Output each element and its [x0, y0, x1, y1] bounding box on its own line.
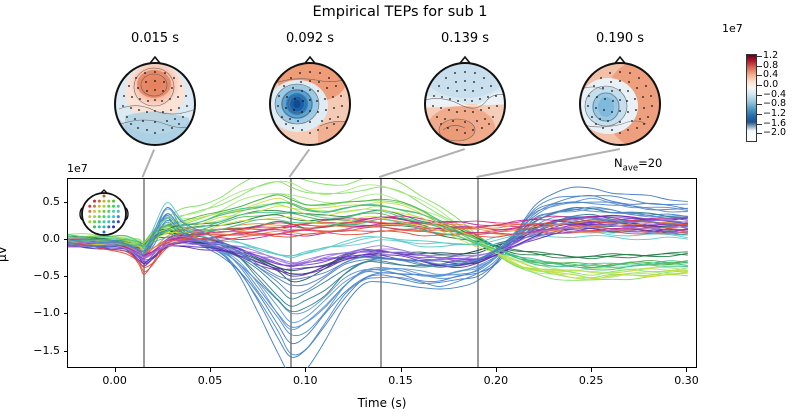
sensor-dot — [93, 215, 96, 218]
y-tick-label: −0.5 — [14, 269, 60, 282]
topomap-3[interactable] — [570, 54, 670, 150]
y-tick-label: −1.5 — [14, 344, 60, 357]
sensor-dot — [107, 220, 110, 223]
colorbar-tick-mark — [757, 114, 762, 115]
sensor-dot — [103, 220, 106, 223]
n-ave-value: =20 — [638, 156, 662, 170]
colorbar-tick-label: −1.2 — [763, 109, 786, 118]
sensor-dot — [93, 210, 96, 213]
n-ave-text: N — [614, 156, 623, 170]
sensor-dot — [112, 200, 115, 203]
sensor-dot — [107, 225, 110, 228]
colorbar-gradient — [746, 54, 757, 142]
sensor-dot — [103, 231, 106, 234]
x-tick-label: 0.15 — [376, 374, 426, 387]
x-tick-mark — [591, 368, 592, 372]
topomap-title-1: 0.092 s — [260, 31, 360, 46]
sensor-dot — [98, 220, 101, 223]
x-tick-mark — [686, 368, 687, 372]
sensor-dot — [107, 210, 110, 213]
sensor-dot — [88, 215, 91, 218]
evoked-waveform-traces — [68, 179, 697, 368]
colorbar-tick-label: 0.4 — [763, 70, 778, 79]
sensor-dot — [98, 205, 101, 208]
x-axis-label: Time (s) — [0, 396, 764, 410]
topomap-title-3: 0.190 s — [570, 31, 670, 46]
topomap-leader-line — [476, 148, 620, 178]
sensor-layout-inset[interactable] — [74, 188, 134, 242]
n-ave-subscript: ave — [623, 163, 638, 173]
sensor-dot — [98, 225, 101, 228]
topomap-title-2: 0.139 s — [415, 31, 515, 46]
topomap-1[interactable] — [260, 54, 360, 150]
colorbar-tick-label: −2.0 — [763, 128, 786, 137]
sensor-dot — [107, 205, 110, 208]
n-ave-annotation: Nave=20 — [614, 156, 662, 173]
topomap-leader-line — [379, 148, 465, 178]
sensor-dot — [117, 205, 120, 208]
topomap-0[interactable] — [105, 54, 205, 150]
sensor-dot — [93, 225, 96, 228]
sensor-dot — [98, 215, 101, 218]
sensor-dot — [93, 220, 96, 223]
sensor-dot — [93, 205, 96, 208]
colorbar-tick-label: 0.8 — [763, 61, 778, 70]
x-tick-mark — [115, 368, 116, 372]
colorbar-tick-mark — [757, 133, 762, 134]
topomap-leader-line — [289, 149, 310, 178]
sensor-dot — [103, 225, 106, 228]
colorbar-tick-mark — [757, 95, 762, 96]
sensor-dot — [98, 200, 101, 203]
sensor-dot — [103, 205, 106, 208]
x-tick-label: 0.30 — [661, 374, 711, 387]
colorbar-tick-label: 0.0 — [763, 80, 778, 89]
x-tick-label: 0.10 — [280, 374, 330, 387]
sensor-dot — [117, 215, 120, 218]
topomap-leader-line — [142, 149, 155, 178]
sensor-dot — [112, 220, 115, 223]
sensor-dot — [112, 210, 115, 213]
sensor-dot — [112, 205, 115, 208]
sensor-dot — [117, 220, 120, 223]
y-axis-label: µV — [0, 246, 9, 262]
colorbar-tick-mark — [757, 75, 762, 76]
colorbar-tick-mark — [757, 66, 762, 67]
x-tick-mark — [401, 368, 402, 372]
x-tick-mark — [496, 368, 497, 372]
sensor-dot — [107, 215, 110, 218]
sensor-dot — [103, 215, 106, 218]
colorbar-tick-label: 1.2 — [763, 51, 778, 60]
colorbar-tick-label: −0.8 — [763, 99, 786, 108]
x-tick-mark — [305, 368, 306, 372]
colorbar-exponent: 1e7 — [722, 22, 743, 35]
sensor-dot — [88, 210, 91, 213]
sensor-dot — [117, 210, 120, 213]
sensor-dot — [103, 195, 106, 198]
sensor-dot — [98, 210, 101, 213]
colorbar-tick-mark — [757, 104, 762, 105]
sensor-dot — [112, 225, 115, 228]
figure-title: Empirical TEPs for sub 1 — [0, 4, 800, 20]
sensor-dot — [112, 215, 115, 218]
colorbar-tick-mark — [757, 85, 762, 86]
colorbar-tick-label: −1.6 — [763, 119, 786, 128]
y-axis-exponent: 1e7 — [67, 162, 88, 175]
topomap-title-0: 0.015 s — [105, 31, 205, 46]
sensor-dot — [88, 205, 91, 208]
sensor-dot — [107, 200, 110, 203]
x-tick-label: 0.05 — [185, 374, 235, 387]
sensor-dot — [103, 210, 106, 213]
x-tick-mark — [210, 368, 211, 372]
sensor-dot — [93, 200, 96, 203]
y-tick-label: 0.5 — [14, 195, 60, 208]
sensor-dot — [103, 200, 106, 203]
x-tick-label: 0.20 — [471, 374, 521, 387]
y-tick-label: −1.0 — [14, 306, 60, 319]
sensor-dot — [88, 220, 91, 223]
x-tick-label: 0.25 — [566, 374, 616, 387]
colorbar-tick-mark — [757, 56, 762, 57]
x-tick-label: 0.00 — [90, 374, 140, 387]
colorbar-tick-label: −0.4 — [763, 90, 786, 99]
topomap-2[interactable] — [415, 54, 515, 150]
y-tick-label: 0.0 — [14, 232, 60, 245]
colorbar-tick-mark — [757, 124, 762, 125]
